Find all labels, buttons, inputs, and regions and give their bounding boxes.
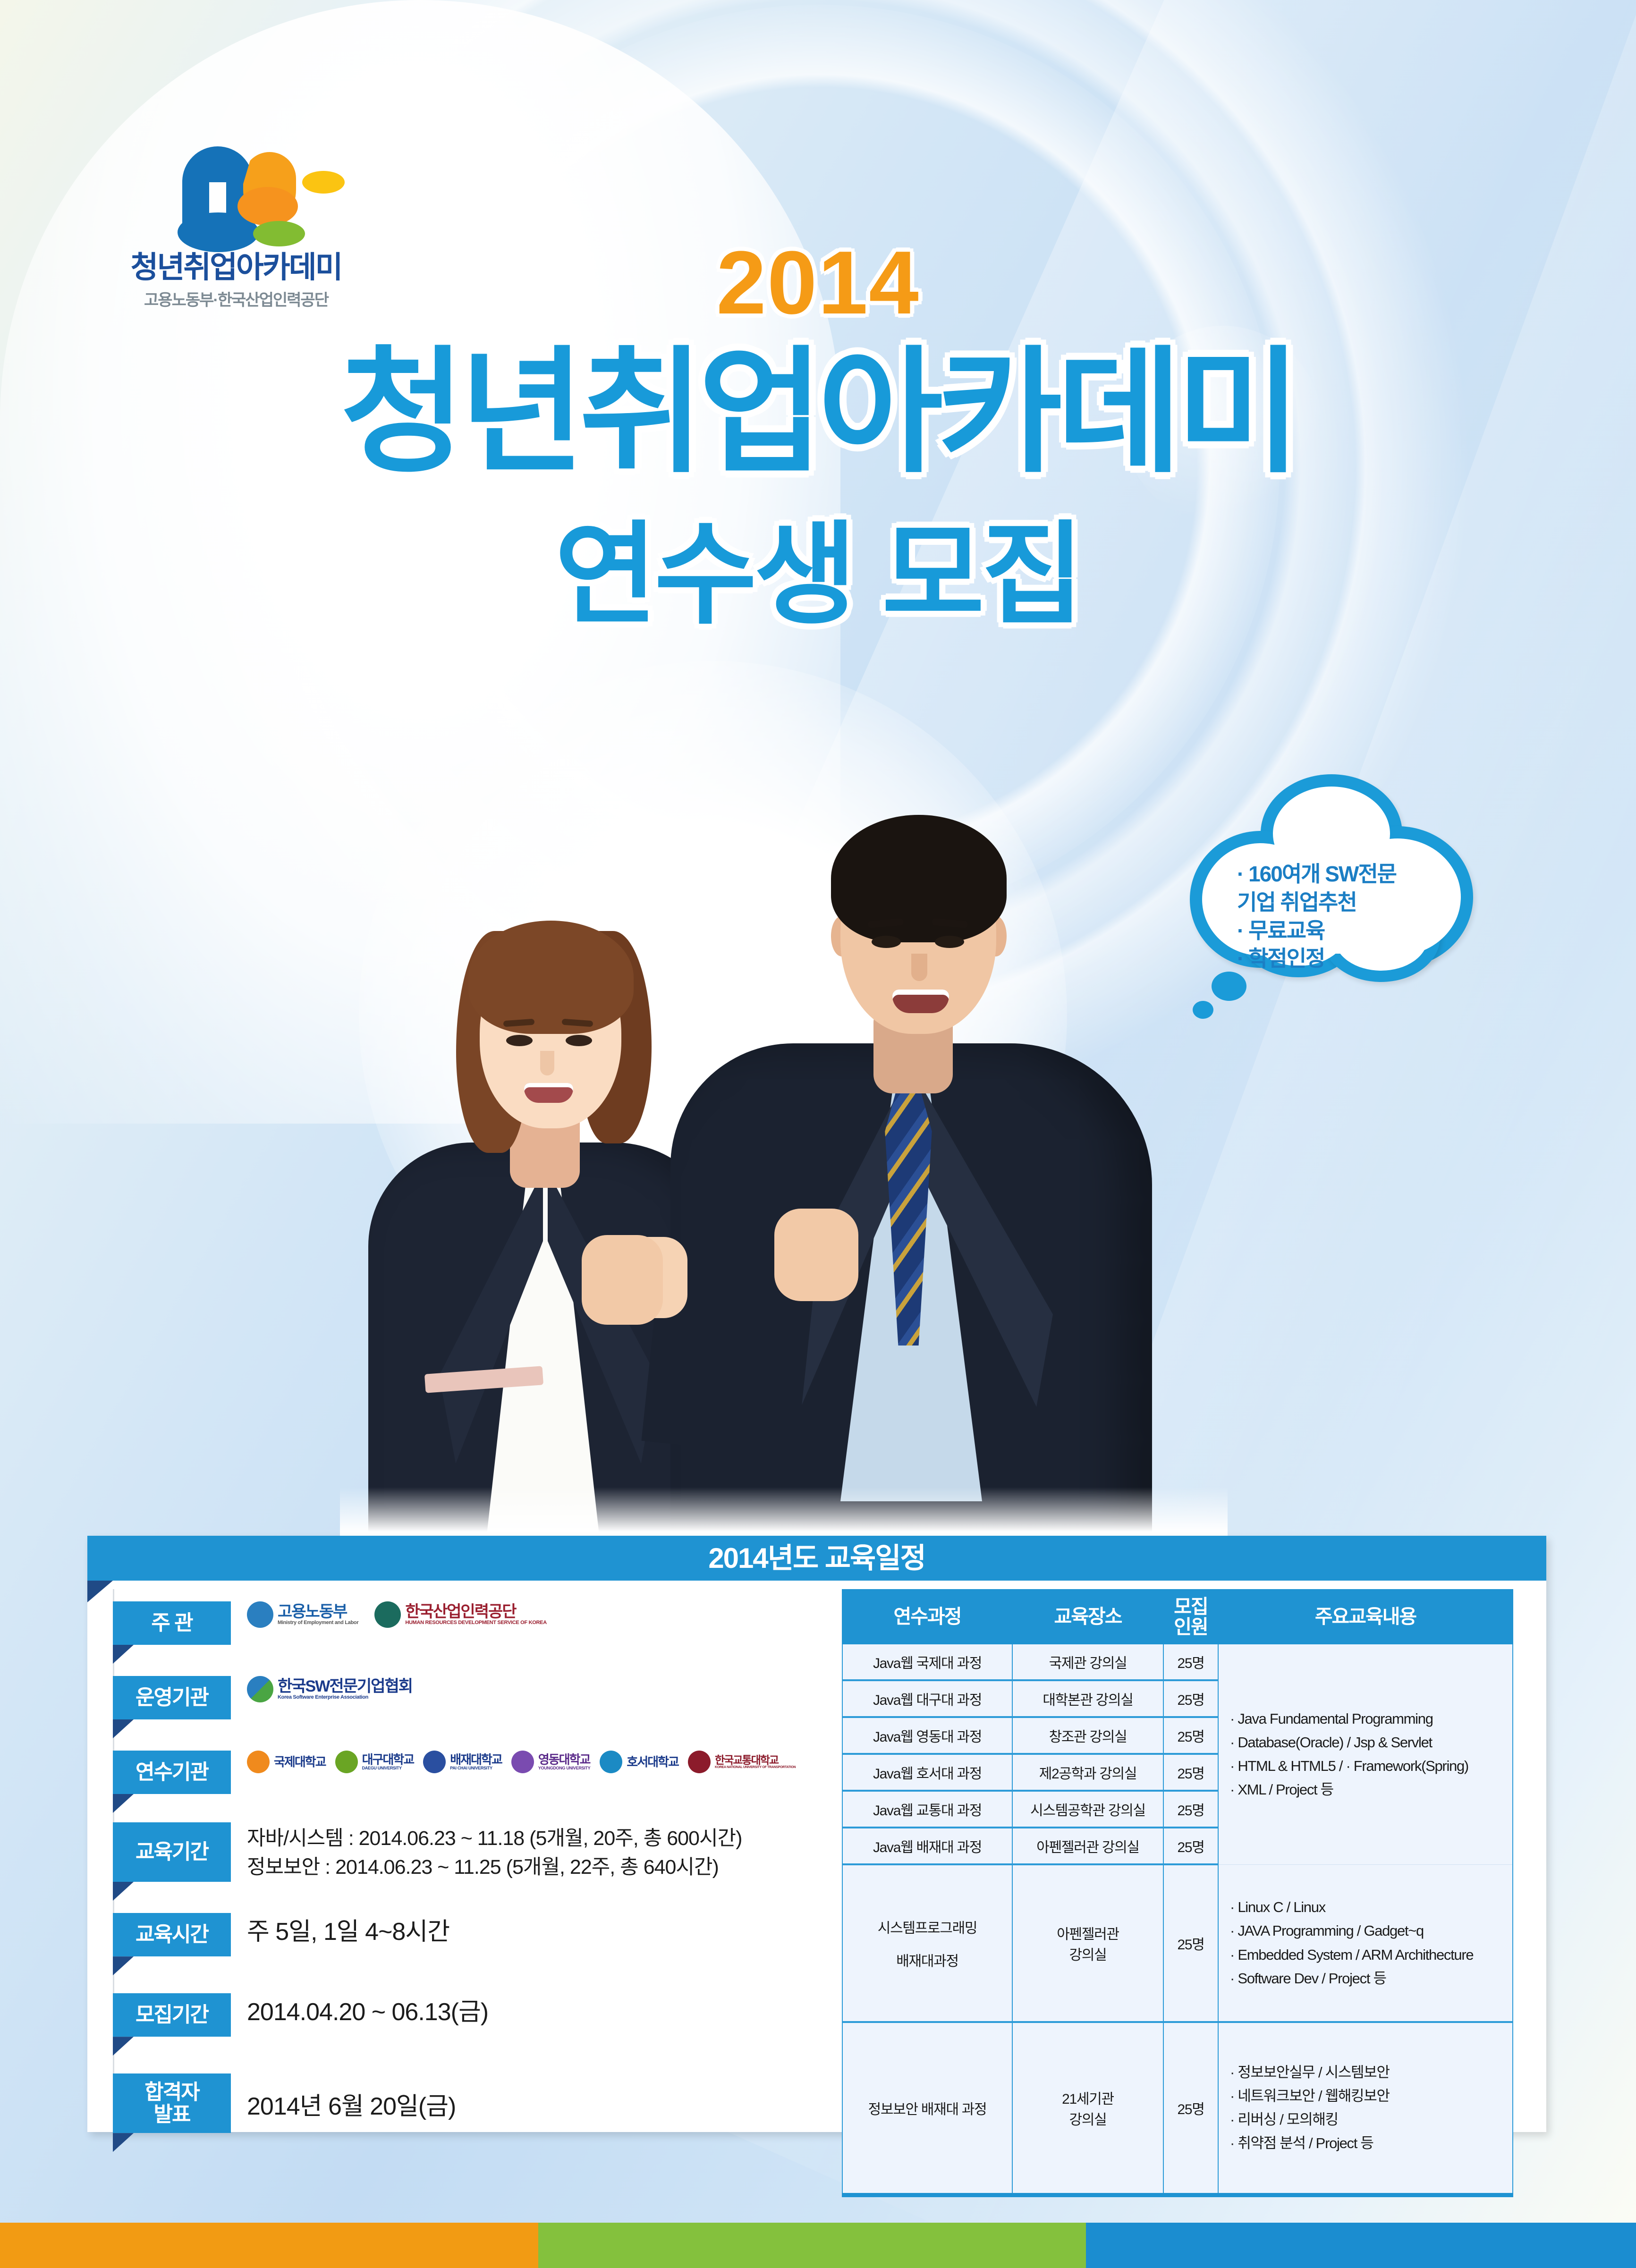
cell-course: Java웹 대구대 과정 — [842, 1680, 1012, 1717]
course-table-header-row: 연수과정 교육장소 모집 인원 주요교육내용 — [842, 1590, 1513, 1644]
kosea-logo: 한국SW전문기업협회 Korea Software Enterprise Ass… — [247, 1676, 412, 1702]
col-header-quota: 모집 인원 — [1163, 1590, 1218, 1644]
cell-content-java: · Java Fundamental Programming · Databas… — [1218, 1644, 1513, 1864]
cell-quota: 25명 — [1163, 1791, 1218, 1828]
university-logo-1: 대구대학교 DAEGU UNIVERSITY — [335, 1751, 414, 1773]
cell-quota: 25명 — [1163, 1644, 1218, 1680]
info-label-application-text: 모집기간 — [136, 2004, 208, 2026]
university-ko-0: 국제대학교 — [274, 1756, 326, 1769]
cell-quota: 25명 — [1163, 1680, 1218, 1717]
info-row-operator: 운영기관 한국SW전문기업협회 Korea Software Enterpris… — [113, 1676, 821, 1719]
university-ko-3: 영동대학교 — [538, 1753, 591, 1766]
cell-place: 대학본관 강의실 — [1012, 1680, 1163, 1717]
cell-quota: 25명 — [1163, 1828, 1218, 1864]
info-row-training-orgs: 연수기관 국제대학교 대구대학교 DAEGU UNIVERSITY 배재대학교 … — [113, 1751, 821, 1794]
university-badge-icon-3 — [511, 1751, 534, 1773]
hero-title-line1: 청년취업아카데미 — [0, 345, 1636, 481]
security-desc-3: · 리버싱 / 모의해킹 — [1230, 2108, 1501, 2132]
info-label-hours: 교육시간 — [113, 1913, 231, 1956]
info-label-host-text: 주 관 — [151, 1612, 192, 1634]
cell-quota: 25명 — [1163, 1864, 1218, 2022]
cell-course: Java웹 국제대 과정 — [842, 1644, 1012, 1680]
col-header-content: 주요교육내용 — [1218, 1590, 1513, 1644]
host-logo-en-1: HUMAN RESOURCES DEVELOPMENT SERVICE OF K… — [405, 1620, 547, 1625]
info-label-announcement: 합격자 발표 — [113, 2073, 231, 2133]
cell-place: 창조관 강의실 — [1012, 1717, 1163, 1754]
cell-place: 제2공학과 강의실 — [1012, 1754, 1163, 1791]
cell-quota: 25명 — [1163, 2022, 1218, 2195]
hrdkorea-badge-icon — [374, 1601, 401, 1628]
info-label-training-orgs: 연수기관 — [113, 1751, 231, 1794]
info-label-period: 교육기간 — [113, 1822, 231, 1882]
host-logo-group: 고용노동부 Ministry of Employment and Labor 한… — [231, 1601, 547, 1628]
university-badge-icon-0 — [247, 1751, 270, 1773]
bubble-dot-large — [1212, 972, 1246, 1001]
strip-segment-green — [538, 2223, 1086, 2268]
col-header-place: 교육장소 — [1012, 1590, 1163, 1644]
col-header-quota-line1: 모집 — [1166, 1597, 1216, 1617]
benefit-line-4: · 학점인정 — [1237, 945, 1450, 973]
cell-course: 정보보안 배재대 과정 — [842, 2022, 1012, 2195]
info-rows: 주 관 고용노동부 Ministry of Employment and Lab… — [113, 1589, 821, 2133]
operator-logo-ko-0: 한국SW전문기업협회 — [278, 1678, 412, 1695]
cell-place: 시스템공학관 강의실 — [1012, 1791, 1163, 1828]
info-value-announcement: 2014년 6월 20일(금) — [231, 2073, 456, 2124]
cell-place: 아펜젤러관 강의실 — [1012, 1828, 1163, 1864]
cell-course-line2: 배재대과정 — [846, 1949, 1009, 1970]
info-label-application: 모집기간 — [113, 1993, 231, 2037]
col-header-course: 연수과정 — [842, 1590, 1012, 1644]
cell-content-system: · Linux C / Linux · JAVA Programming / G… — [1218, 1864, 1513, 2022]
info-label-hours-text: 교육시간 — [136, 1923, 208, 1946]
ministry-badge-icon — [247, 1601, 273, 1628]
info-row-host: 주 관 고용노동부 Ministry of Employment and Lab… — [113, 1601, 821, 1645]
benefits-list: · 160여개 SW전문 기업 취업추천 · 무료교육 · 학점인정 — [1237, 860, 1450, 973]
ministry-of-employment-logo: 고용노동부 Ministry of Employment and Labor — [247, 1601, 358, 1628]
security-desc-4: · 취약점 분석 / Project 등 — [1230, 2132, 1501, 2155]
cell-content-security: · 정보보안실무 / 시스템보안 · 네트워크보안 / 웹해킹보안 · 리버싱 … — [1218, 2022, 1513, 2195]
info-label-operator: 운영기관 — [113, 1676, 231, 1719]
host-logo-ko-0: 고용노동부 — [278, 1604, 358, 1620]
table-row: 시스템프로그래밍 배재대과정 아펜젤러관 강의실 25명 · Linux C /… — [842, 1864, 1513, 2022]
university-badge-icon-5 — [688, 1751, 711, 1773]
info-label-announcement-line2: 발표 — [154, 2103, 190, 2126]
java-desc-1: · Java Fundamental Programming — [1230, 1707, 1501, 1731]
cell-place-line2: 강의실 — [1016, 2108, 1160, 2129]
university-ko-4: 호서대학교 — [627, 1756, 678, 1769]
info-row-hours: 교육시간 주 5일, 1일 4~8시간 — [113, 1913, 821, 1956]
models-photo — [368, 718, 1199, 1539]
cell-quota: 25명 — [1163, 1754, 1218, 1791]
benefits-thought-bubble: · 160여개 SW전문 기업 취업추천 · 무료교육 · 학점인정 — [1180, 774, 1483, 1010]
university-badge-icon-4 — [600, 1751, 622, 1773]
info-value-period: 자바/시스템 : 2014.06.23 ~ 11.18 (5개월, 20주, 총… — [231, 1822, 742, 1882]
cell-course: Java웹 호서대 과정 — [842, 1754, 1012, 1791]
university-badge-icon-2 — [423, 1751, 446, 1773]
university-ko-5: 한국교통대학교 — [715, 1755, 796, 1766]
system-desc-1: · Linux C / Linux — [1230, 1896, 1501, 1919]
info-label-operator-text: 운영기관 — [136, 1686, 208, 1709]
info-value-hours: 주 5일, 1일 4~8시간 — [231, 1913, 449, 1950]
university-logo-5: 한국교통대학교 KOREA NATIONAL UNIVERSITY OF TRA… — [688, 1751, 796, 1773]
university-en-5: KOREA NATIONAL UNIVERSITY OF TRANSPORTAT… — [715, 1766, 796, 1769]
table-row: 정보보안 배재대 과정 21세기관 강의실 25명 · 정보보안실무 / 시스템… — [842, 2022, 1513, 2195]
strip-segment-orange — [0, 2223, 538, 2268]
cell-place: 아펜젤러관 강의실 — [1012, 1864, 1163, 2022]
training-org-logo-group: 국제대학교 대구대학교 DAEGU UNIVERSITY 배재대학교 PAI C… — [231, 1751, 796, 1773]
operator-logo-group: 한국SW전문기업협회 Korea Software Enterprise Ass… — [231, 1676, 412, 1702]
table-row: Java웹 국제대 과정 국제관 강의실 25명 · Java Fundamen… — [842, 1644, 1513, 1680]
benefit-line-2: 기업 취업추천 — [1237, 889, 1450, 917]
benefit-line-1: · 160여개 SW전문 — [1237, 860, 1450, 889]
cell-place: 21세기관 강의실 — [1012, 2022, 1163, 2195]
cell-place-line1: 21세기관 — [1016, 2087, 1160, 2108]
info-label-training-orgs-text: 연수기관 — [136, 1761, 208, 1784]
schedule-banner: 2014년도 교육일정 — [87, 1536, 1546, 1581]
cell-place-line2: 강의실 — [1016, 1943, 1160, 1964]
info-label-host: 주 관 — [113, 1601, 231, 1645]
info-row-period: 교육기간 자바/시스템 : 2014.06.23 ~ 11.18 (5개월, 2… — [113, 1822, 821, 1882]
university-badge-icon-1 — [335, 1751, 358, 1773]
system-desc-2: · JAVA Programming / Gadget~q — [1230, 1919, 1501, 1943]
cell-course: Java웹 교통대 과정 — [842, 1791, 1012, 1828]
security-desc-2: · 네트워크보안 / 웹해킹보안 — [1230, 2084, 1501, 2108]
cell-place: 국제관 강의실 — [1012, 1644, 1163, 1680]
host-logo-ko-1: 한국산업인력공단 — [405, 1604, 547, 1620]
university-logo-4: 호서대학교 — [600, 1751, 678, 1773]
hero-year: 2014 — [0, 231, 1636, 334]
host-logo-en-0: Ministry of Employment and Labor — [278, 1620, 358, 1625]
course-table: 연수과정 교육장소 모집 인원 주요교육내용 Java웹 국제대 과정 국제관 … — [842, 1589, 1513, 2197]
hrd-korea-logo: 한국산업인력공단 HUMAN RESOURCES DEVELOPMENT SER… — [374, 1601, 547, 1628]
security-desc-1: · 정보보안실무 / 시스템보안 — [1230, 2061, 1501, 2084]
info-value-application: 2014.04.20 ~ 06.13(금) — [231, 1993, 488, 2030]
cell-place-line1: 아펜젤러관 — [1016, 1922, 1160, 1943]
system-desc-4: · Software Dev / Project 등 — [1230, 1967, 1501, 1990]
java-desc-3: · HTML & HTML5 / · Framework(Spring) — [1230, 1754, 1501, 1778]
cell-quota: 25명 — [1163, 1717, 1218, 1754]
university-en-1: DAEGU UNIVERSITY — [362, 1766, 414, 1770]
university-logo-0: 국제대학교 — [247, 1751, 326, 1773]
period-line-2: 정보보안 : 2014.06.23 ~ 11.25 (5개월, 22주, 총 6… — [247, 1853, 742, 1882]
university-ko-2: 배재대학교 — [450, 1753, 502, 1766]
info-row-application: 모집기간 2014.04.20 ~ 06.13(금) — [113, 1993, 821, 2037]
university-logo-2: 배재대학교 PAI CHAI UNIVERSITY — [423, 1751, 502, 1773]
benefit-line-3: · 무료교육 — [1237, 917, 1450, 945]
cell-course-line1: 시스템프로그래밍 — [846, 1916, 1009, 1937]
system-desc-3: · Embedded System / ARM Archithecture — [1230, 1943, 1501, 1967]
university-ko-1: 대구대학교 — [362, 1753, 414, 1766]
period-line-1: 자바/시스템 : 2014.06.23 ~ 11.18 (5개월, 20주, 총… — [247, 1824, 742, 1853]
university-en-2: PAI CHAI UNIVERSITY — [450, 1766, 502, 1770]
info-row-announcement: 합격자 발표 2014년 6월 20일(금) — [113, 2073, 821, 2133]
hero-title-line2: 연수생 모집 — [0, 519, 1636, 631]
col-header-quota-line2: 인원 — [1166, 1617, 1216, 1637]
operator-logo-en-0: Korea Software Enterprise Association — [278, 1695, 412, 1700]
cell-course: Java웹 영동대 과정 — [842, 1717, 1012, 1754]
bubble-dot-small — [1193, 1001, 1213, 1019]
university-logo-3: 영동대학교 YOUNGDONG UNIVERSITY — [511, 1751, 591, 1773]
info-label-announcement-line1: 합격자 — [144, 2081, 199, 2104]
schedule-banner-title: 2014년도 교육일정 — [87, 1536, 1546, 1581]
java-desc-2: · Database(Oracle) / Jsp & Servlet — [1230, 1731, 1501, 1754]
university-en-3: YOUNGDONG UNIVERSITY — [538, 1766, 591, 1770]
info-label-period-text: 교육기간 — [136, 1841, 208, 1863]
cell-course: 시스템프로그래밍 배재대과정 — [842, 1864, 1012, 2022]
cell-course: Java웹 배재대 과정 — [842, 1828, 1012, 1864]
java-desc-4: · XML / Project 등 — [1230, 1778, 1501, 1802]
bottom-color-strip — [0, 2223, 1636, 2268]
strip-segment-blue — [1086, 2223, 1636, 2268]
kosea-badge-icon — [247, 1676, 273, 1702]
